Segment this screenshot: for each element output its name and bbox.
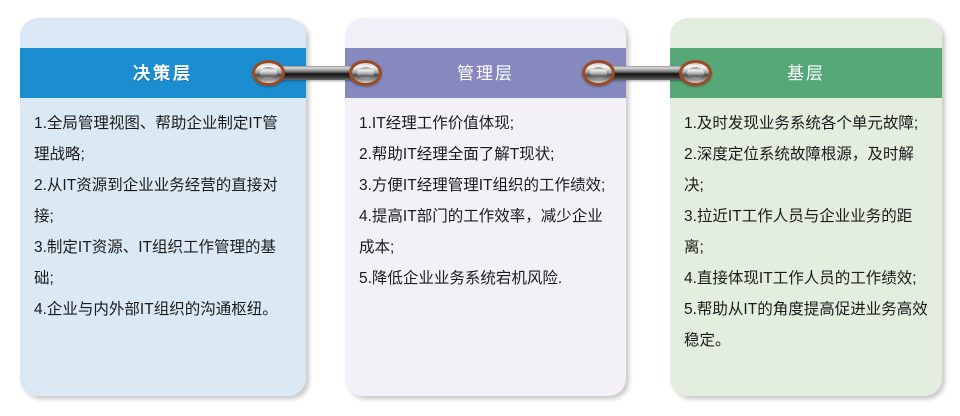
connector-ring-left-icon [252, 60, 285, 86]
card-decision-title: 决策层 [133, 65, 193, 82]
connector-management-frontline [582, 60, 712, 86]
connector-ring-left-icon [582, 60, 615, 86]
diagram-canvas: 决策层 1.全局管理视图、帮助企业制定IT管理战略; 2.从IT资源到企业业务经… [0, 0, 960, 416]
card-management-items: 1.IT经理工作价值体现; 2.帮助IT经理全面了解T现状; 3.方便IT经理管… [359, 108, 612, 294]
card-frontline-top-strip [670, 18, 942, 48]
card-management-top-strip [345, 18, 626, 48]
card-frontline-items: 1.及时发现业务系统各个单元故障; 2.深度定位系统故障根源，及时解决; 3.拉… [684, 108, 928, 356]
connector-ring-right-icon [349, 60, 382, 86]
card-decision-items: 1.全局管理视图、帮助企业制定IT管理战略; 2.从IT资源到企业业务经营的直接… [34, 108, 292, 325]
card-decision-top-strip [20, 18, 306, 48]
connector-decision-management [252, 60, 382, 86]
card-management-body: 1.IT经理工作价值体现; 2.帮助IT经理全面了解T现状; 3.方便IT经理管… [345, 98, 626, 396]
card-frontline-title: 基层 [787, 65, 825, 82]
connector-ring-right-icon [679, 60, 712, 86]
card-frontline-body: 1.及时发现业务系统各个单元故障; 2.深度定位系统故障根源，及时解决; 3.拉… [670, 98, 942, 396]
card-decision-body: 1.全局管理视图、帮助企业制定IT管理战略; 2.从IT资源到企业业务经营的直接… [20, 98, 306, 396]
card-management-title: 管理层 [457, 65, 514, 82]
